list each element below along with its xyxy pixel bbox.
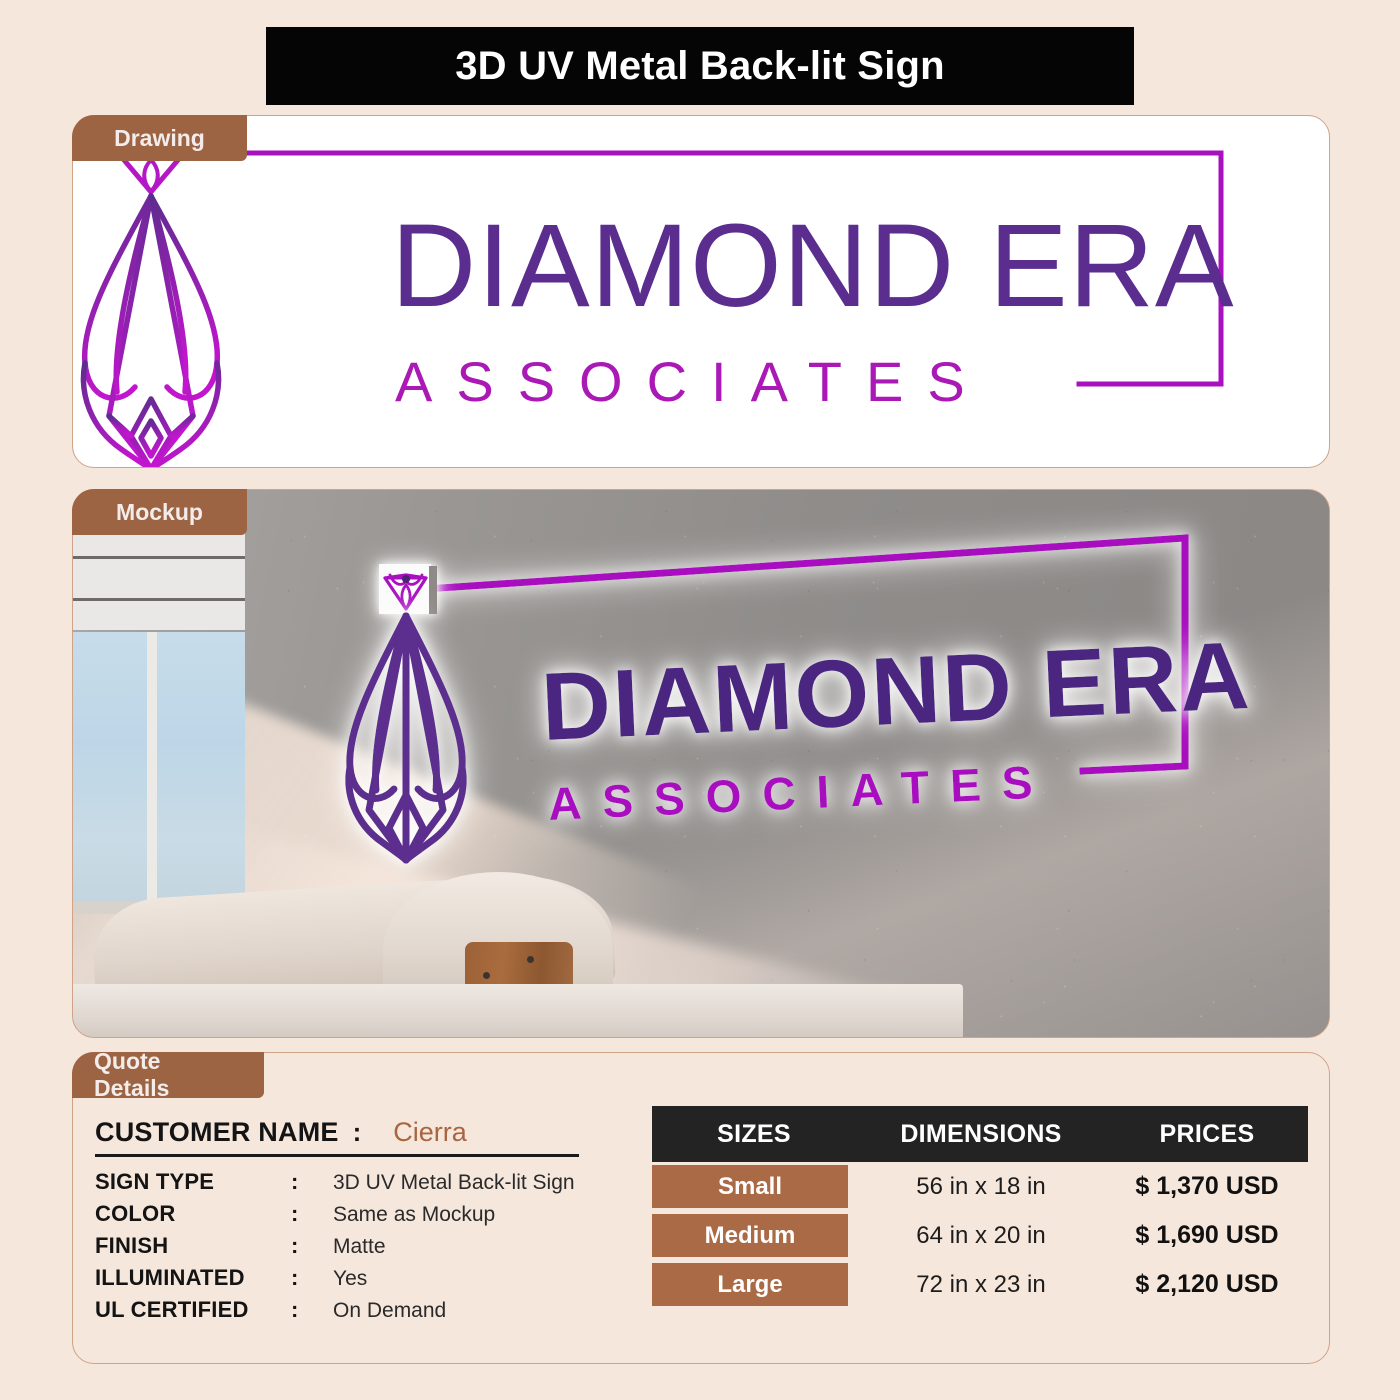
pendant-icon — [84, 196, 219, 468]
drawing-panel: DIAMOND ERA ASSOCIATES — [72, 115, 1330, 468]
spec-key: SIGN TYPE — [95, 1169, 291, 1195]
logo-wordmark: DIAMOND ERA — [391, 200, 1235, 332]
spec-key: UL CERTIFIED — [95, 1297, 291, 1323]
spec-value: On Demand — [333, 1299, 446, 1323]
spec-row: COLOR : Same as Mockup — [95, 1201, 655, 1233]
logo-artwork: DIAMOND ERA ASSOCIATES — [73, 116, 1329, 467]
spec-separator: : — [291, 1297, 333, 1323]
size-cell: Small — [652, 1165, 856, 1208]
size-cell: Large — [652, 1263, 856, 1306]
logo-subtitle: ASSOCIATES — [395, 350, 989, 413]
spec-value: Matte — [333, 1235, 386, 1259]
header-prices: PRICES — [1106, 1120, 1308, 1149]
price-table-row: Medium 64 in x 20 in $ 1,690 USD — [652, 1211, 1308, 1260]
header-sizes: SIZES — [652, 1120, 856, 1149]
spec-key: FINISH — [95, 1233, 291, 1259]
spec-separator: : — [291, 1169, 333, 1195]
spec-value: Yes — [333, 1267, 367, 1291]
price-table-header: SIZES DIMENSIONS PRICES — [652, 1106, 1308, 1162]
sign-wordmark: DIAMOND ERA — [539, 622, 1253, 761]
spec-block: CUSTOMER NAME : Cierra SIGN TYPE : 3D UV… — [95, 1117, 655, 1329]
quote-details-tab[interactable]: Quote Details — [72, 1052, 264, 1098]
customer-name-label: CUSTOMER NAME — [95, 1117, 339, 1148]
header-dimensions: DIMENSIONS — [856, 1120, 1106, 1149]
mockup-tab[interactable]: Mockup — [72, 489, 247, 535]
price-table-row: Small 56 in x 18 in $ 1,370 USD — [652, 1162, 1308, 1211]
customer-name-value: Cierra — [393, 1117, 467, 1148]
price-cell: $ 1,370 USD — [1106, 1172, 1308, 1201]
spec-separator: : — [291, 1201, 333, 1227]
pendant-icon-mockup — [349, 616, 463, 860]
spec-row: UL CERTIFIED : On Demand — [95, 1297, 655, 1329]
mockup-panel: DIAMOND ERA ASSOCIATES — [72, 489, 1330, 1038]
price-cell: $ 2,120 USD — [1106, 1270, 1308, 1299]
price-table-row: Large 72 in x 23 in $ 2,120 USD — [652, 1260, 1308, 1309]
spec-key: COLOR — [95, 1201, 291, 1227]
drawing-tab[interactable]: Drawing — [72, 115, 247, 161]
dimensions-cell: 56 in x 18 in — [856, 1173, 1106, 1201]
quote-sheet: 3D UV Metal Back-lit Sign — [0, 0, 1400, 1400]
mockup-tab-label: Mockup — [116, 499, 203, 526]
price-cell: $ 1,690 USD — [1106, 1221, 1308, 1250]
spec-key: ILLUMINATED — [95, 1265, 291, 1291]
backlit-sign: DIAMOND ERA ASSOCIATES — [73, 490, 1330, 1038]
price-table: SIZES DIMENSIONS PRICES Small 56 in x 18… — [652, 1106, 1308, 1309]
page-title-bar: 3D UV Metal Back-lit Sign — [266, 27, 1134, 105]
spec-separator: : — [291, 1265, 333, 1291]
sign-wordmark-group: DIAMOND ERA — [539, 622, 1253, 761]
quote-tab-label: Quote Details — [94, 1048, 242, 1102]
spec-row: FINISH : Matte — [95, 1233, 655, 1265]
dimensions-cell: 72 in x 23 in — [856, 1271, 1106, 1299]
customer-name-underline — [95, 1154, 579, 1157]
spec-row: SIGN TYPE : 3D UV Metal Back-lit Sign — [95, 1169, 655, 1201]
customer-name-colon: : — [353, 1117, 362, 1148]
customer-name-row: CUSTOMER NAME : Cierra — [95, 1117, 655, 1148]
dimensions-cell: 64 in x 20 in — [856, 1222, 1106, 1250]
size-badge: Small — [652, 1165, 848, 1208]
spec-separator: : — [291, 1233, 333, 1259]
page-title: 3D UV Metal Back-lit Sign — [455, 44, 945, 89]
spec-list: SIGN TYPE : 3D UV Metal Back-lit Sign CO… — [95, 1169, 655, 1329]
size-badge: Medium — [652, 1214, 848, 1257]
drawing-tab-label: Drawing — [114, 125, 205, 152]
size-cell: Medium — [652, 1214, 856, 1257]
spec-value: Same as Mockup — [333, 1203, 495, 1227]
logo-svg: DIAMOND ERA ASSOCIATES — [73, 116, 1330, 468]
sign-subtitle-group: ASSOCIATES — [547, 755, 1054, 830]
spec-value: 3D UV Metal Back-lit Sign — [333, 1171, 575, 1195]
spec-row: ILLUMINATED : Yes — [95, 1265, 655, 1297]
sign-subtitle: ASSOCIATES — [547, 755, 1054, 830]
size-badge: Large — [652, 1263, 848, 1306]
